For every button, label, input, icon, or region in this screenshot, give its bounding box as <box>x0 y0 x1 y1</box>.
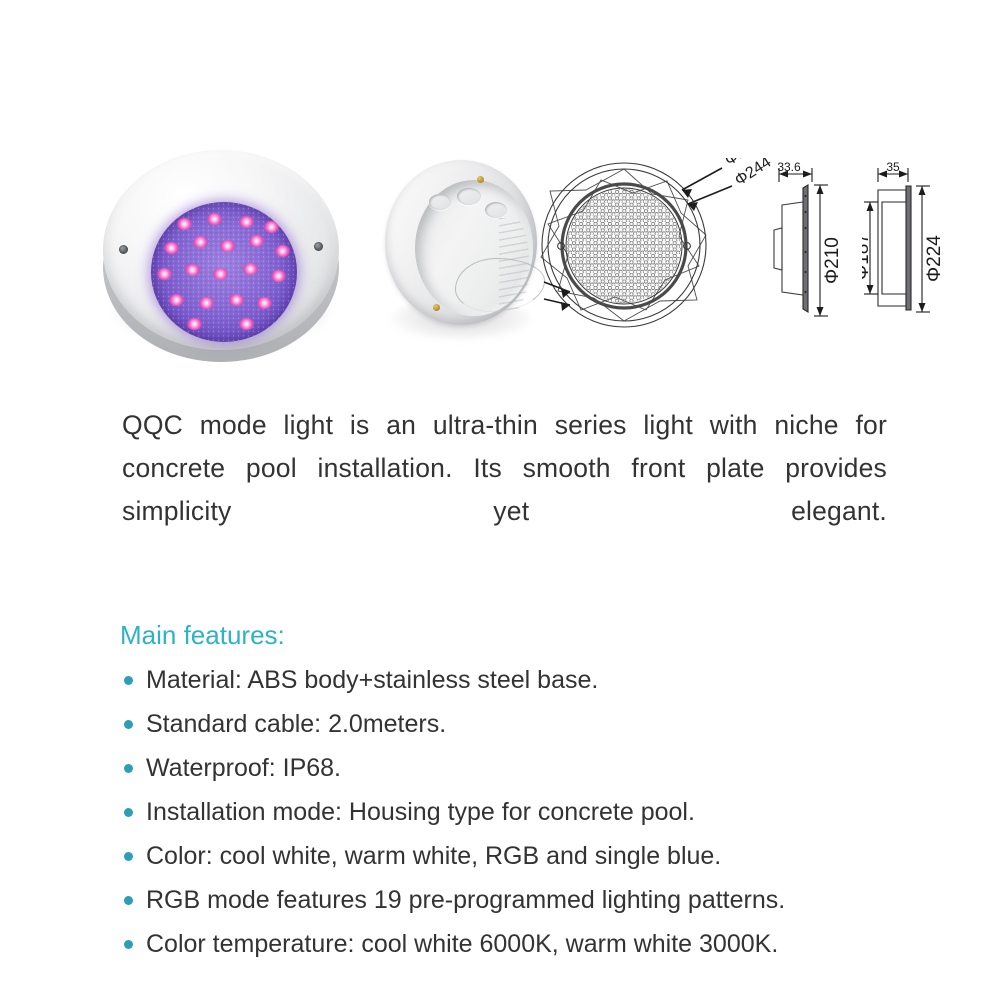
bullet-icon <box>124 720 133 729</box>
dimension-label-thickness: 33.6 <box>777 160 801 174</box>
dimension-label-phi187: Φ187 <box>862 233 873 280</box>
led-point <box>220 240 235 252</box>
led-point <box>185 264 200 276</box>
feature-item-label: Material: ABS body+stainless steel base. <box>146 666 598 694</box>
niche-profile <box>878 190 906 306</box>
led-point <box>157 268 172 280</box>
led-point <box>193 236 208 248</box>
side-view-niche-drawing: 35 Φ187 Φ224 <box>862 160 972 335</box>
feature-item: Standard cable: 2.0meters. <box>120 702 920 746</box>
dimension-label-phi224: Φ224 <box>924 235 945 282</box>
feature-item: RGB mode features 19 pre-programmed ligh… <box>120 878 920 922</box>
led-point <box>213 268 228 280</box>
lamp-body <box>103 150 339 350</box>
feature-item: Installation mode: Housing type for conc… <box>120 790 920 834</box>
dimension-leaders-left <box>544 282 570 311</box>
led-point <box>275 245 290 257</box>
niche-emboss-2 <box>457 188 481 205</box>
lamp-lens <box>151 202 297 342</box>
feature-item: Material: ABS body+stainless steel base. <box>120 658 920 702</box>
feature-item: Color temperature: cool white 6000K, war… <box>120 922 920 966</box>
feature-item: Color: cool white, warm white, RGB and s… <box>120 834 920 878</box>
lamp-back-body <box>782 202 803 295</box>
bullet-icon <box>124 808 133 817</box>
feature-item-label: Standard cable: 2.0meters. <box>146 710 446 738</box>
niche-inner-bowl <box>415 180 533 316</box>
led-point <box>271 270 286 282</box>
front-view-drawing: Φ210 Φ244 <box>536 158 786 333</box>
lamp-screw-left <box>119 245 128 254</box>
feature-item-label: Color: cool white, warm white, RGB and s… <box>146 842 721 870</box>
led-point <box>169 294 184 306</box>
bullet-icon <box>124 852 133 861</box>
niche-housing-photo <box>383 150 548 345</box>
led-point <box>249 235 264 247</box>
side-view-light-drawing: 33.6 Φ210 <box>772 160 872 335</box>
niche-flange <box>906 186 911 310</box>
main-features-section: Main features: Material: ABS body+stainl… <box>120 618 920 966</box>
dimension-label-phi210-side: Φ210 <box>822 237 843 284</box>
bullet-icon <box>124 764 133 773</box>
lamp-screw-right <box>314 242 323 251</box>
feature-item-label: Color temperature: cool white 6000K, war… <box>146 930 778 958</box>
led-point <box>229 294 244 306</box>
niche-emboss-1 <box>429 194 451 210</box>
feature-item-label: RGB mode features 19 pre-programmed ligh… <box>146 886 785 914</box>
description-paragraph: QQC mode light is an ultra-thin series l… <box>122 404 887 576</box>
niche-screw-top <box>477 176 484 183</box>
features-heading: Main features: <box>120 618 920 652</box>
led-point <box>177 218 192 230</box>
led-point <box>264 221 279 233</box>
led-point <box>239 216 254 228</box>
lamp-bracket <box>774 228 782 270</box>
bullet-icon <box>124 940 133 949</box>
feature-item-label: Installation mode: Housing type for conc… <box>146 798 695 826</box>
bullet-icon <box>124 676 133 685</box>
niche-emboss-3 <box>485 202 507 218</box>
feature-item-label: Waterproof: IP68. <box>146 754 341 782</box>
led-point <box>187 318 202 330</box>
led-point <box>239 318 254 330</box>
niche-outer-rim <box>385 160 537 325</box>
bullet-icon <box>124 896 133 905</box>
dimension-leaders <box>682 168 732 211</box>
led-point <box>199 297 214 309</box>
led-point <box>207 213 222 225</box>
dimension-label-depth: 35 <box>886 160 900 174</box>
features-list: Material: ABS body+stainless steel base.… <box>120 658 920 966</box>
product-description: QQC mode light is an ultra-thin series l… <box>122 404 887 576</box>
niche-screw-bottom <box>433 304 440 311</box>
niche-ribs <box>499 218 529 310</box>
feature-item: Waterproof: IP68. <box>120 746 920 790</box>
led-point <box>257 297 272 309</box>
led-point <box>164 242 179 254</box>
led-point <box>243 263 258 275</box>
lit-rgb-pool-light-photo <box>97 128 345 353</box>
product-image-strip: Φ210 Φ244 <box>0 0 1000 385</box>
